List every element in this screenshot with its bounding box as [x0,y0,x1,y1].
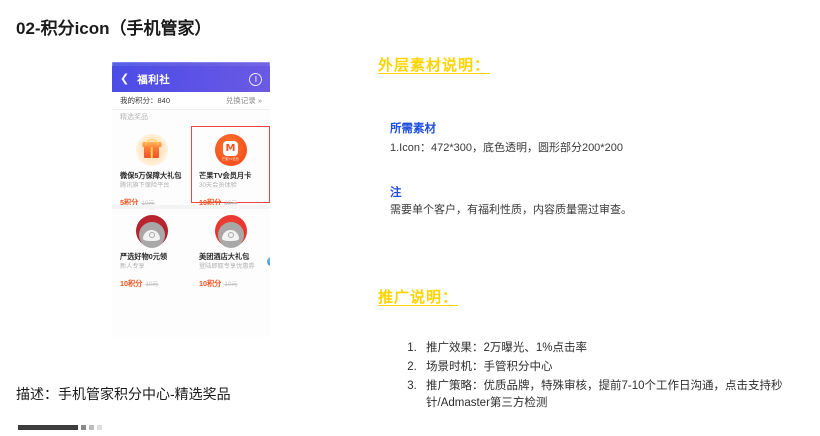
placeholder-cell [191,212,270,258]
mango-tv-icon: M 芒果TV会员 [215,134,247,166]
card-icon-wrap: M 芒果TV会员 [199,130,262,170]
card-subtitle: 新人专享 [120,263,183,271]
page-title: 02-积分icon（手机管家） [16,14,212,39]
promo-heading-wrap: 推广说明： [378,286,458,307]
card-subtitle: 腾讯旗下保险平台 [120,182,183,190]
card-icon-wrap [120,130,183,170]
promo-list: 推广效果：2万曝光、1%点击率 场景时机：手管积分中心 推广策略：优质品牌，特殊… [390,340,810,413]
blue-cursor-dot [267,257,270,266]
scrollbar-segment [81,425,86,430]
my-points-label: 我的积分：840 [120,95,170,106]
phone-header-title: 福利社 [137,72,170,87]
promo-list-item: 推广策略：优质品牌，特殊审核，提前7-10个工作日沟通，点击支持秒针/Admas… [420,378,810,414]
materials-line: 1.Icon：472*300，底色透明，圆形部分200*200 [390,140,623,157]
card-points: 10积分 [199,279,221,288]
promo-heading: 推广说明： [378,286,458,307]
points-bar: 我的积分：840 兑换记录 » [112,92,270,110]
gift-bow-shape [145,139,158,145]
broken-image-inner [222,230,239,241]
promo-list-wrap: 推广效果：2万曝光、1%点击率 场景时机：手管积分中心 推广策略：优质品牌，特殊… [390,340,810,414]
card-title: 芒果TV会员月卡 [199,171,262,180]
gift-icon [136,134,168,166]
note-heading: 注 [390,184,632,200]
scrollbar-segment [97,425,102,430]
materials-block: 所需素材 1.Icon：472*300，底色透明，圆形部分200*200 [390,120,623,157]
phone-app-header: ❮ 福利社 [112,66,270,92]
chevron-left-icon[interactable]: ❮ [120,74,129,85]
placeholder-row [112,212,270,258]
broken-image-dot [149,232,155,238]
materials-heading: 所需素材 [390,120,623,136]
card-price: 10积分10元 [199,272,262,291]
broken-image-icon [139,222,165,248]
card-old-price: 10元 [224,281,237,288]
card-title: 微保5万保障大礼包 [120,171,183,180]
description-text: 描述：手机管家积分中心-精选奖品 [16,385,256,404]
card-subtitle: 30天会员体验 [199,182,262,190]
outer-material-heading-wrap: 外层素材说明： [378,54,490,75]
reward-card-weibao[interactable]: 微保5万保障大礼包 腾讯旗下保险平台 5积分10元 [112,126,191,203]
card-subtitle: 登陆即取专享优惠券 [199,263,262,271]
card-price: 10积分10元 [120,272,183,291]
promo-list-item: 推广效果：2万曝光、1%点击率 [420,340,810,358]
scrollbar-thumb[interactable] [18,425,78,430]
note-line: 需要单个客户，有福利性质，内容质量需过审查。 [390,202,632,219]
gift-box-shape [144,145,159,158]
mango-badge-subtext: 芒果TV会员 [222,157,239,161]
broken-image-dot [228,232,234,238]
broken-image-inner [143,230,160,241]
note-block: 注 需要单个客户，有福利性质，内容质量需过审查。 [390,184,632,219]
outer-material-heading: 外层素材说明： [378,54,490,75]
promo-list-item: 场景时机：手管积分中心 [420,359,810,377]
section-divider [112,205,270,209]
card-points: 10积分 [120,279,142,288]
horizontal-scrollbar[interactable] [18,425,106,430]
phone-mockup: ❮ 福利社 我的积分：840 兑换记录 » 精选奖品 微保5万保障大礼包 腾讯旗… [112,62,270,337]
placeholder-cell [112,212,191,258]
section-label: 精选奖品 [120,112,148,122]
exchange-records-link[interactable]: 兑换记录 » [226,95,262,106]
reward-card-mangotv[interactable]: M 芒果TV会员 芒果TV会员月卡 30天会员体验 10积分20元 [191,126,270,203]
scrollbar-segment [89,425,94,430]
mango-badge-letter: M [223,141,238,156]
broken-image-icon [218,222,244,248]
info-icon[interactable] [249,73,262,86]
card-old-price: 10元 [145,281,158,288]
